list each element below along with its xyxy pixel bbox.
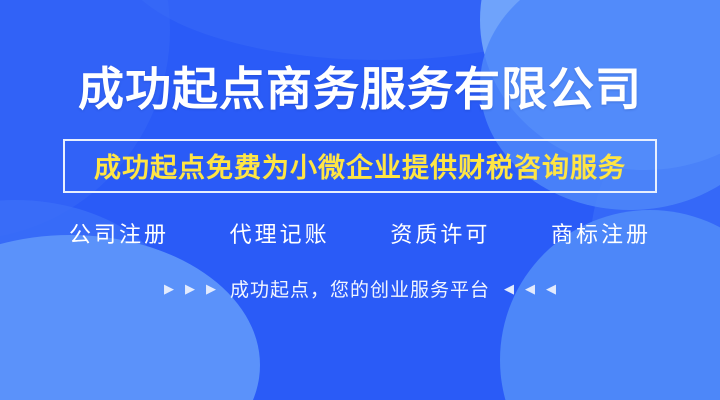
nav-item-company-registration[interactable]: 公司注册 [69,217,169,249]
highlight-offer-text: 成功起点免费为小微企业提供财税咨询服务 [94,146,626,185]
highlight-offer-box: 成功起点免费为小微企业提供财税咨询服务 [63,139,657,193]
triangle-left-icon: ◀ [525,282,535,295]
nav-item-bookkeeping[interactable]: 代理记账 [230,217,330,249]
tagline-row: ▶ ▶ ▶ 成功起点，您的创业服务平台 ◀ ◀ ◀ [164,275,556,302]
triangle-right-icon: ▶ [206,282,216,295]
banner-content: 成功起点商务服务有限公司 成功起点免费为小微企业提供财税咨询服务 公司注册 代理… [0,0,720,400]
tagline-left-arrows: ▶ ▶ ▶ [164,282,216,295]
triangle-left-icon: ◀ [546,282,556,295]
triangle-right-icon: ▶ [164,282,174,295]
promo-banner: 成功起点商务服务有限公司 成功起点免费为小微企业提供财税咨询服务 公司注册 代理… [0,0,720,400]
tagline-text: 成功起点，您的创业服务平台 [230,275,490,302]
triangle-right-icon: ▶ [185,282,195,295]
nav-item-qualification-license[interactable]: 资质许可 [390,217,490,249]
service-nav: 公司注册 代理记账 资质许可 商标注册 [63,217,657,249]
company-title: 成功起点商务服务有限公司 [78,64,642,115]
nav-item-trademark-registration[interactable]: 商标注册 [551,217,651,249]
tagline-right-arrows: ◀ ◀ ◀ [504,282,556,295]
triangle-left-icon: ◀ [504,282,514,295]
